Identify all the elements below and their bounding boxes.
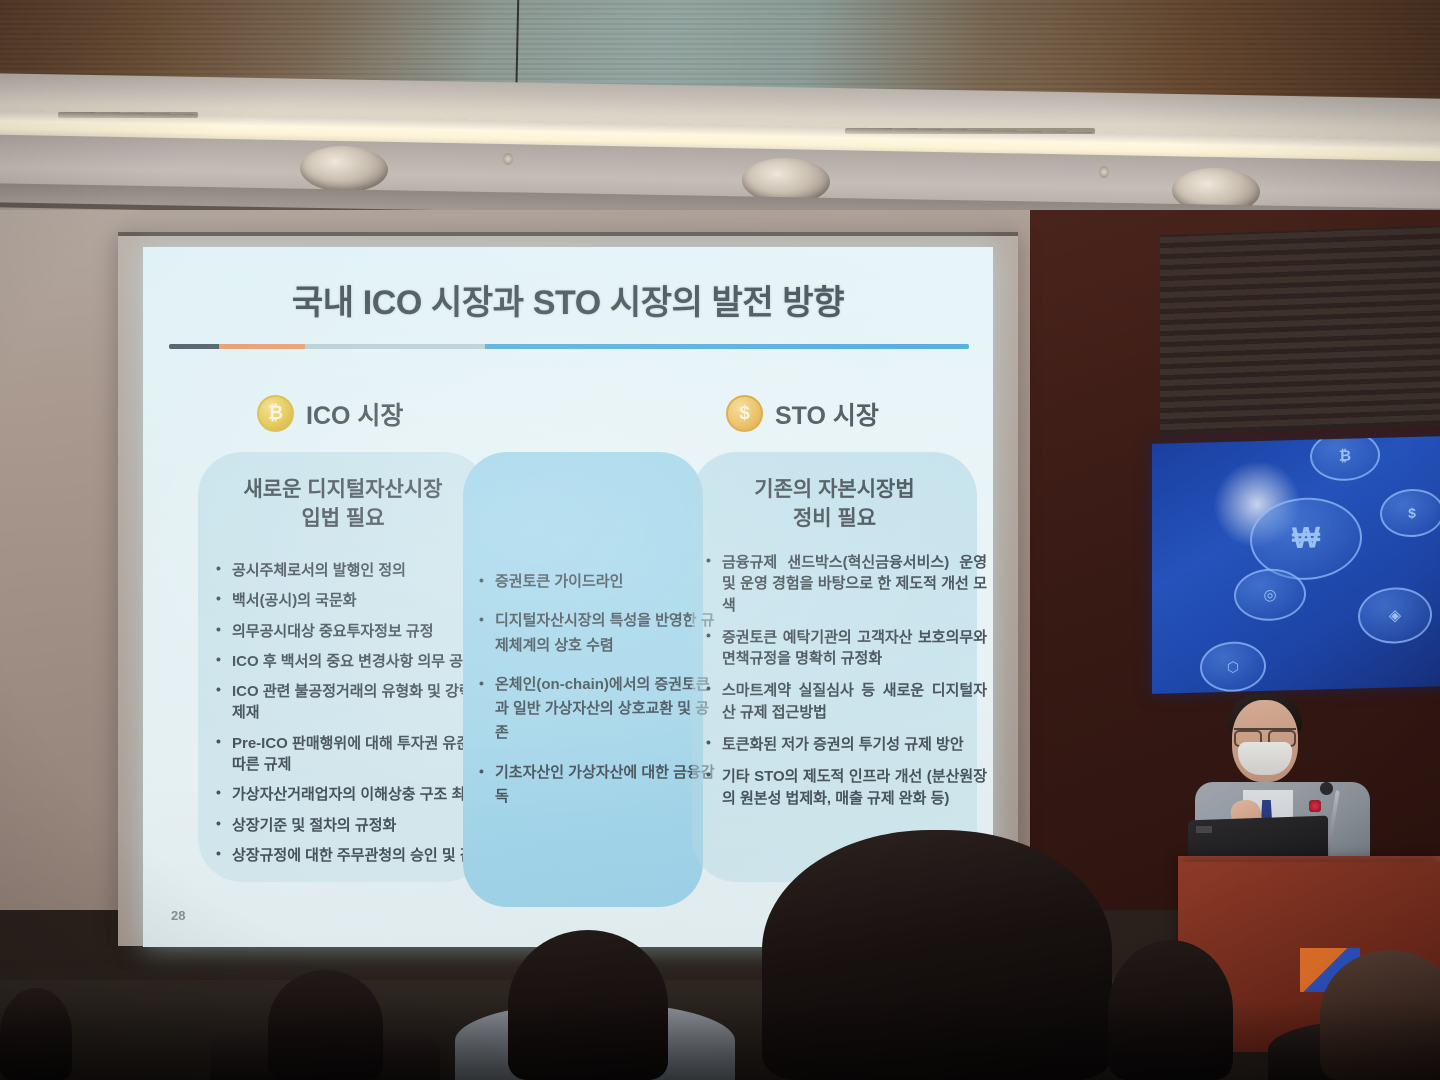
list-item: 기타 STO의 제도적 인프라 개선 (분산원장의 원본성 법제화, 매출 규제… xyxy=(702,766,987,809)
list-item: 가상자산거래업자의 이해상충 구조 최소화 xyxy=(212,784,502,805)
column-header-sto-label: STO 시장 xyxy=(775,396,879,432)
column-header-ico-label: ICO 시장 xyxy=(306,396,403,432)
list-item: 토큰화된 저가 증권의 투기성 규제 방안 xyxy=(702,734,987,755)
card-ico-title-line2: 입법 필요 xyxy=(198,505,488,534)
banner-coin-dollar-icon: $ xyxy=(1380,488,1440,538)
bitcoin-coin-icon: ₿ xyxy=(257,395,294,432)
accent-segment-blue xyxy=(485,344,969,349)
card-middle: 증권토큰 가이드라인 디지털자산시장의 특성을 반영한 규제체계의 상호 수렴 … xyxy=(463,452,703,907)
audience-head xyxy=(268,970,383,1080)
column-header-sto: $ STO 시장 xyxy=(726,395,879,432)
ceiling-sprinkler-1 xyxy=(503,153,513,165)
banner-coin-btc-icon: ₿ xyxy=(1310,436,1380,482)
column-header-ico: ₿ ICO 시장 xyxy=(257,395,403,432)
audience-head xyxy=(0,988,72,1080)
slide-title: 국내 ICO 시장과 STO 시장의 발전 방향 xyxy=(143,275,993,324)
slide-page-number: 28 xyxy=(171,908,185,923)
list-item: 디지털자산시장의 특성을 반영한 규제체계의 상호 수렴 xyxy=(475,609,715,658)
accent-segment-navy xyxy=(169,344,219,349)
list-item: 금융규제 샌드박스(혁신금융서비스) 운영 및 운영 경험을 바탕으로 한 제도… xyxy=(702,552,987,616)
card-sto-title-line1: 기존의 자본시장법 xyxy=(692,476,977,505)
wall-vent-grille-upper xyxy=(1160,225,1440,435)
list-item: 백서(공시)의 국문화 xyxy=(212,590,502,611)
dollar-coin-icon: $ xyxy=(726,395,763,432)
list-item: 온체인(on-chain)에서의 증권토큰과 일반 가상자산의 상호교환 및 공… xyxy=(475,673,715,746)
side-display-banner: ₩ ₿ $ ◈ ◎ ⬡ xyxy=(1152,436,1440,694)
list-item: 스마트계약 실질심사 등 새로운 디지털자산 규제 접근방법 xyxy=(702,680,987,723)
audience-head xyxy=(1320,950,1440,1080)
list-item: 기초자산인 가상자산에 대한 금융감독 xyxy=(475,761,715,810)
list-item: 증권토큰 예탁기관의 고객자산 보호의무와 면책규정을 명확히 규정화 xyxy=(702,627,987,670)
card-sto-title: 기존의 자본시장법 정비 필요 xyxy=(692,476,977,534)
banner-coin-circle-icon: ◎ xyxy=(1234,568,1306,622)
card-ico-title-line1: 새로운 디지털자산시장 xyxy=(198,476,488,505)
audience-head-foreground xyxy=(762,830,1112,1080)
accent-segment-gray xyxy=(305,344,485,349)
list-item: 증권토큰 가이드라인 xyxy=(475,570,715,594)
microphone-head xyxy=(1320,782,1333,795)
list-item: 상장기준 및 절차의 규정화 xyxy=(212,815,502,836)
list-item: 의무공시대상 중요투자정보 규정 xyxy=(212,621,502,642)
audience-head xyxy=(508,930,668,1080)
card-sto: 기존의 자본시장법 정비 필요 금융규제 샌드박스(혁신금융서비스) 운영 및 … xyxy=(692,452,977,882)
lapel-pin xyxy=(1309,800,1321,812)
list-item: 공시주체로서의 발행인 정의 xyxy=(212,560,502,581)
card-sto-bullet-list: 금융규제 샌드박스(혁신금융서비스) 운영 및 운영 경험을 바탕으로 한 제도… xyxy=(692,552,993,820)
banner-coin-hex-icon: ⬡ xyxy=(1200,641,1266,693)
laptop-logo xyxy=(1196,826,1212,833)
card-ico-title: 새로운 디지털자산시장 입법 필요 xyxy=(198,476,488,534)
face-mask xyxy=(1238,742,1292,775)
list-item: ICO 후 백서의 중요 변경사항 의무 공시 xyxy=(212,651,502,672)
title-accent-bar xyxy=(169,344,969,349)
banner-coin-diamond-icon: ◈ xyxy=(1358,586,1432,644)
accent-segment-orange xyxy=(219,344,305,349)
card-sto-title-line2: 정비 필요 xyxy=(692,505,977,534)
audience-head xyxy=(1108,940,1233,1080)
list-item: Pre-ICO 판매행위에 대해 투자권 유준칙에 따른 규제 xyxy=(212,733,502,776)
list-item: ICO 관련 불공정거래의 유형화 및 강력한 제재 xyxy=(212,681,502,724)
list-item: 상장규정에 대한 주무관청의 승인 및 감독 xyxy=(212,845,502,866)
card-ico: 새로운 디지털자산시장 입법 필요 공시주체로서의 발행인 정의 백서(공시)의… xyxy=(198,452,488,882)
photo-scene: 국내 ICO 시장과 STO 시장의 발전 방향 ₿ ICO 시장 $ STO … xyxy=(0,0,1440,1080)
ceiling-sprinkler-2 xyxy=(1099,166,1109,178)
